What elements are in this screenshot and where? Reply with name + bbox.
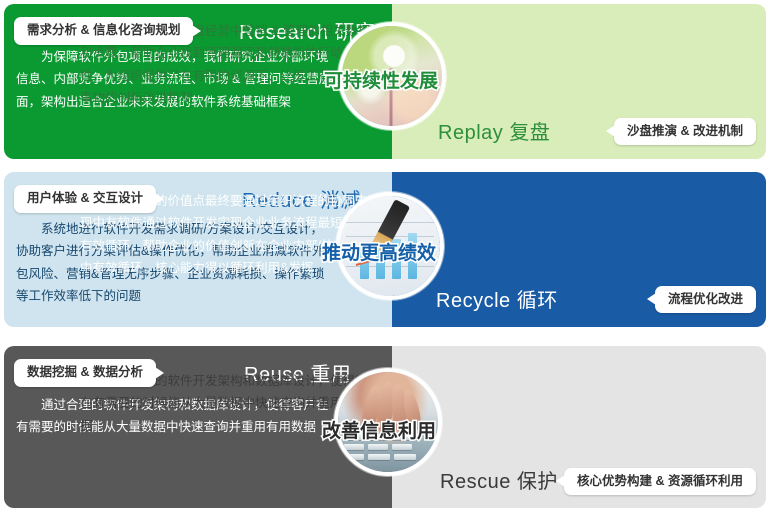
tag-reduce[interactable]: 用户体验 & 交互设计 (14, 185, 156, 213)
heading-recycle: Recycle 循环 (436, 284, 558, 313)
tag-replay[interactable]: 沙盘推演 & 改进机制 (614, 118, 756, 146)
row-reuse-rescue: 数据挖掘 & 数据分析 Reuse 重用 通过合理的软件开发架构和数据库设计，使… (4, 346, 766, 508)
row-reduce-recycle: 用户体验 & 交互设计 Reduce 消减 系统地进行软件开发需求调研/方案设计… (4, 172, 766, 327)
tag-reuse[interactable]: 数据挖掘 & 数据分析 (14, 359, 156, 387)
medallion-label-information: 改善信息利用 (322, 422, 436, 441)
tag-recycle[interactable]: 流程优化改进 (655, 286, 756, 314)
tag-research[interactable]: 需求分析 & 信息化咨询规划 (14, 17, 193, 45)
medallion-label-sustainable: 可持续性发展 (324, 72, 438, 91)
medallion-label-performance: 推动更高绩效 (322, 244, 436, 263)
heading-replay: Replay 复盘 (438, 116, 550, 145)
heading-rescue: Rescue 保护 (440, 465, 558, 494)
row-research-replay: 需求分析 & 信息化咨询规划 Research 研究 为保障软件外包项目的成效，… (4, 4, 766, 159)
tag-rescue[interactable]: 核心优势构建 & 资源循环利用 (564, 468, 756, 496)
five-r-infographic: 需求分析 & 信息化咨询规划 Research 研究 为保障软件外包项目的成效，… (0, 0, 770, 512)
